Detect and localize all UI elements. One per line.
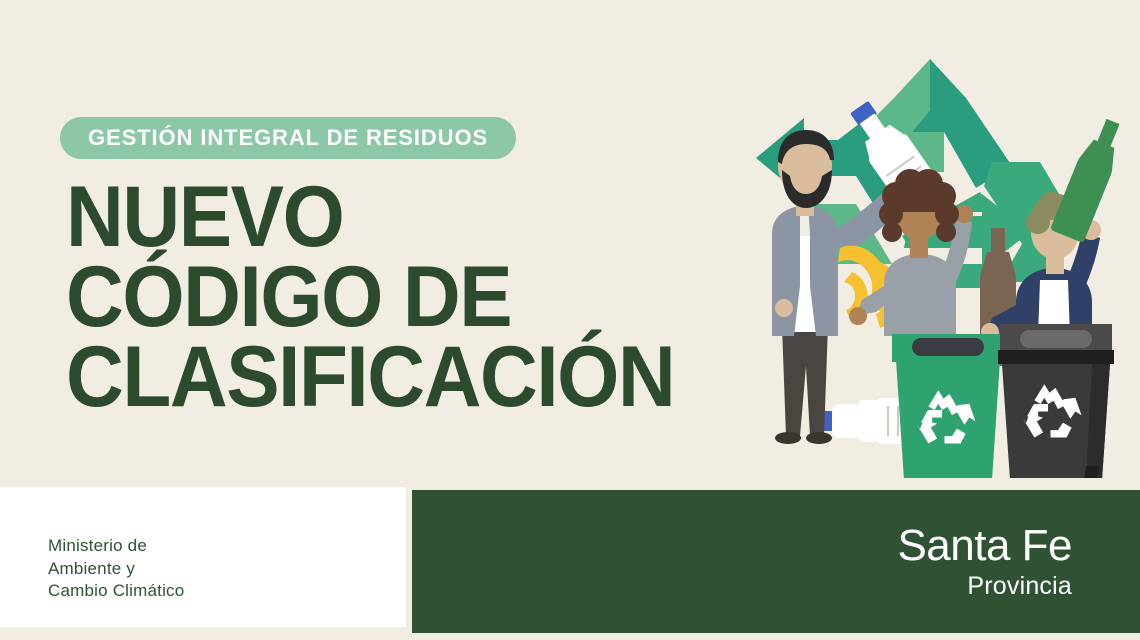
green-glass-bottle-icon — [1050, 115, 1130, 243]
black-recycling-bin-icon — [998, 324, 1114, 482]
category-badge: GESTIÓN INTEGRAL DE RESIDUOS — [60, 117, 516, 159]
ministry-line-1: Ministerio de — [48, 535, 184, 558]
recycling-illustration — [744, 36, 1140, 482]
category-badge-label: GESTIÓN INTEGRAL DE RESIDUOS — [88, 127, 488, 149]
headline-line-3: CLASIFICACIÓN — [66, 338, 736, 418]
brand-name: Santa Fe — [897, 524, 1072, 568]
ministry-line-2: Ambiente y — [48, 558, 184, 581]
poster-canvas: GESTIÓN INTEGRAL DE RESIDUOS NUEVO CÓDIG… — [0, 0, 1140, 640]
green-recycling-bin-icon — [892, 334, 1004, 480]
ministry-line-3: Cambio Climático — [48, 580, 184, 603]
ministry-name: Ministerio de Ambiente y Cambio Climátic… — [48, 535, 184, 603]
page-title: NUEVO CÓDIGO DE CLASIFICACIÓN — [66, 178, 786, 418]
santa-fe-logo: Santa Fe Provincia — [897, 524, 1072, 599]
headline-line-1: NUEVO — [66, 178, 736, 258]
headline-line-2: CÓDIGO DE — [66, 258, 736, 338]
brand-subtitle: Provincia — [897, 574, 1072, 599]
